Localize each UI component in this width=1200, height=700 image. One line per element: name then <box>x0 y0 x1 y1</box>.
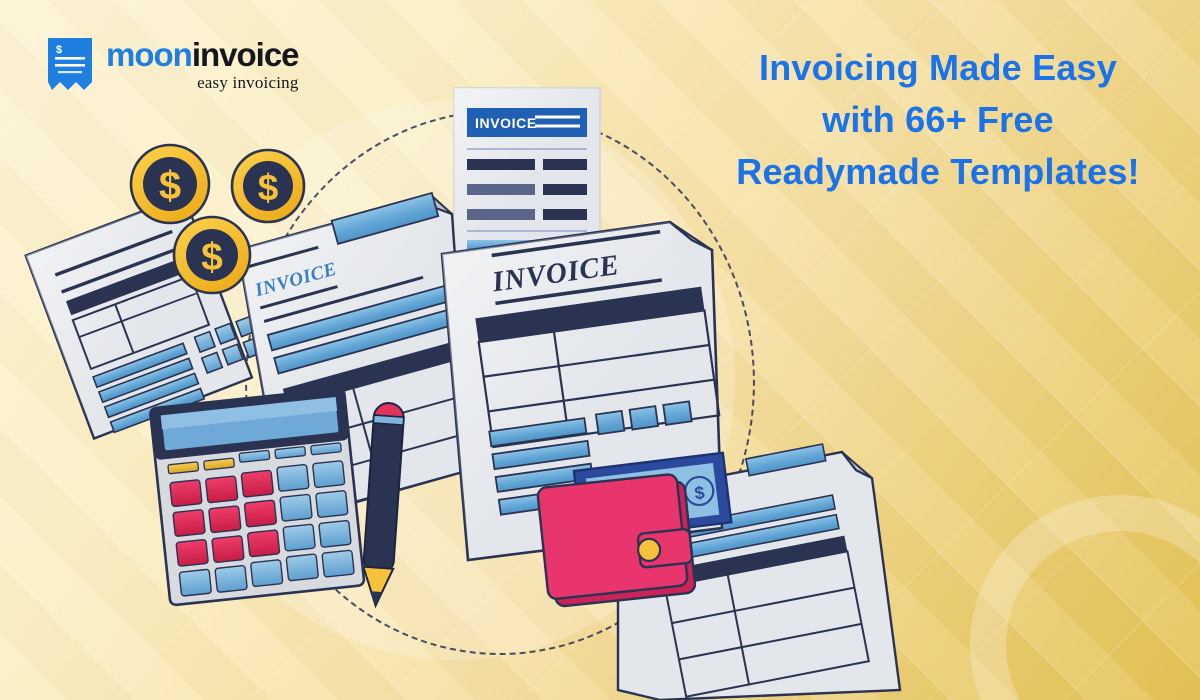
promo-banner: INVOICE INVOICE <box>0 0 1200 700</box>
top-invoice-document: INVOICE <box>454 88 600 258</box>
brand-name-moon: moon <box>106 36 192 73</box>
svg-text:$: $ <box>56 44 62 56</box>
wallet <box>537 473 696 608</box>
wallet-clasp <box>637 538 661 562</box>
coin-2: $ <box>232 150 304 222</box>
invoice-receipt-icon: $ <box>44 36 96 92</box>
headline-line-3: Readymade Templates! <box>708 146 1168 198</box>
coin-1: $ <box>131 145 209 223</box>
top-invoice-label: INVOICE <box>475 115 537 131</box>
headline-line-2: with 66+ Free <box>708 94 1168 146</box>
headline-line-1: Invoicing Made Easy <box>708 42 1168 94</box>
brand-tagline: easy invoicing <box>197 74 298 91</box>
brand-logo[interactable]: $ mooninvoice easy invoicing <box>44 36 299 92</box>
brand-wordmark: mooninvoice easy invoicing <box>106 38 299 91</box>
coin-3: $ <box>174 217 250 293</box>
svg-text:$: $ <box>201 236 223 279</box>
svg-text:$: $ <box>258 167 279 208</box>
svg-text:$: $ <box>159 164 181 208</box>
headline: Invoicing Made Easy with 66+ Free Readym… <box>708 42 1168 199</box>
calculator <box>150 388 365 605</box>
brand-name-invoice: invoice <box>192 36 299 73</box>
